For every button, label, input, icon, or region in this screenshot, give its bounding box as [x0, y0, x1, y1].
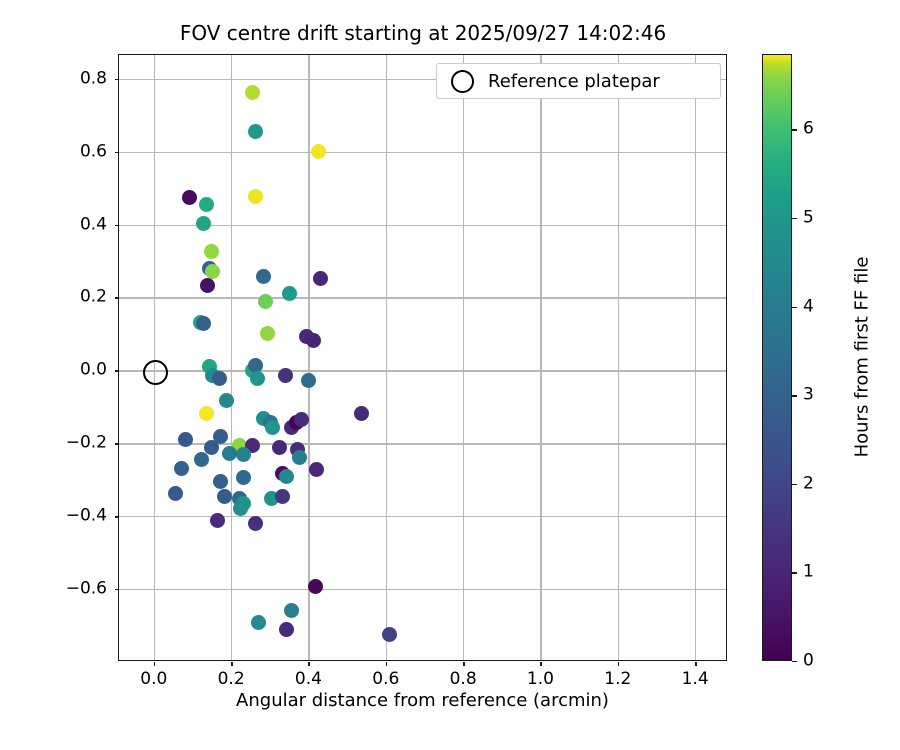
colorbar-title: Hours from first FF file — [852, 257, 873, 458]
x-axis-label: Angular distance from reference (arcmin) — [118, 690, 727, 711]
colorbar-tick-label: 2 — [803, 475, 814, 492]
plot-axes: 0.00.20.40.60.81.01.21.4 −0.6−0.4−0.20.0… — [118, 54, 727, 661]
legend-label: Reference platepar — [488, 71, 660, 92]
scatter-point — [212, 371, 227, 386]
x-tick-label: 1.0 — [527, 671, 554, 688]
colorbar-tick-label: 0 — [803, 653, 814, 670]
x-tick-label: 0.2 — [218, 671, 245, 688]
colorbar-tick-label: 6 — [803, 121, 814, 138]
colorbar-tick — [792, 572, 797, 573]
colorbar-tick-label: 1 — [803, 564, 814, 581]
scatter-point — [199, 406, 214, 421]
x-tick — [308, 662, 309, 666]
scatter-point — [248, 124, 263, 139]
colorbar-tick — [792, 395, 797, 396]
scatter-point — [205, 264, 220, 279]
scatter-point — [236, 470, 251, 485]
scatter-point — [354, 406, 369, 421]
y-tick-label: 0.8 — [80, 70, 107, 87]
scatter-point — [309, 462, 324, 477]
scatter-point — [196, 316, 211, 331]
scatter-point — [282, 286, 297, 301]
scatter-point — [292, 450, 307, 465]
page-title: FOV centre drift starting at 2025/09/27 … — [118, 20, 728, 46]
scatter-point — [200, 278, 215, 293]
reference-platepar-marker — [143, 360, 168, 385]
x-tick — [154, 662, 155, 666]
colorbar-gradient — [762, 54, 792, 661]
colorbar-tick — [792, 484, 797, 485]
y-tick-label: −0.2 — [66, 435, 107, 452]
x-tick-label: 1.2 — [604, 671, 631, 688]
y-tick-label: −0.4 — [66, 508, 107, 525]
x-tick — [695, 662, 696, 666]
colorbar-tick — [792, 129, 797, 130]
scatter-point — [279, 622, 294, 637]
scatter-point — [308, 579, 323, 594]
scatter-point — [313, 271, 328, 286]
colorbar: 0123456 — [762, 54, 792, 661]
scatter-point — [251, 615, 266, 630]
scatter-point — [204, 244, 219, 259]
scatter-point — [248, 189, 263, 204]
y-tick-label: 0.0 — [80, 362, 107, 379]
open-circle-icon — [451, 70, 474, 93]
scatter-point — [311, 144, 326, 159]
scatter-point — [294, 412, 309, 427]
scatter-point — [210, 513, 225, 528]
scatter-point — [258, 294, 273, 309]
scatter-point — [236, 447, 251, 462]
scatter-point — [265, 420, 280, 435]
x-tick — [618, 662, 619, 666]
scatter-point — [174, 461, 189, 476]
scatter-point — [217, 489, 232, 504]
y-tick-label: 0.6 — [80, 143, 107, 160]
scatter-point — [306, 333, 321, 348]
scatter-point — [219, 393, 234, 408]
colorbar-tick — [792, 307, 797, 308]
scatter-point — [250, 371, 265, 386]
x-tick-label: 0.8 — [450, 671, 477, 688]
x-tick — [386, 662, 387, 666]
y-tick-label: −0.6 — [66, 581, 107, 598]
scatter-point — [275, 489, 290, 504]
x-tick-label: 0.0 — [140, 671, 167, 688]
colorbar-tick-label: 4 — [803, 298, 814, 315]
scatter-point — [194, 452, 209, 467]
y-tick-label: 0.2 — [80, 289, 107, 306]
scatter-point — [382, 627, 397, 642]
scatter-point — [182, 190, 197, 205]
scatter-point — [301, 373, 316, 388]
scatter-point — [196, 216, 211, 231]
scatter-point — [178, 432, 193, 447]
x-tick — [231, 662, 232, 666]
scatter-point — [222, 446, 237, 461]
x-tick-label: 0.6 — [372, 671, 399, 688]
x-tick — [540, 662, 541, 666]
scatter-point — [248, 516, 263, 531]
scatter-point — [245, 85, 260, 100]
scatter-point — [168, 486, 183, 501]
colorbar-tick — [792, 661, 797, 662]
x-tick-label: 1.4 — [682, 671, 709, 688]
colorbar-tick — [792, 218, 797, 219]
scatter-point — [233, 501, 248, 516]
legend: Reference platepar — [436, 63, 721, 99]
scatter-point — [272, 440, 287, 455]
x-tick — [463, 662, 464, 666]
x-tick-label: 0.4 — [295, 671, 322, 688]
scatter-point — [213, 474, 228, 489]
scatter-point — [199, 197, 214, 212]
scatter-point — [279, 469, 294, 484]
scatter-point — [204, 440, 219, 455]
scatter-point — [260, 326, 275, 341]
scatter-point — [256, 269, 271, 284]
scatter-point — [278, 368, 293, 383]
scatter-point — [284, 603, 299, 618]
scatter-series — [119, 55, 726, 660]
colorbar-tick-label: 5 — [803, 209, 814, 226]
figure-canvas: FOV centre drift starting at 2025/09/27 … — [0, 0, 900, 750]
y-tick-label: 0.4 — [80, 216, 107, 233]
colorbar-tick-label: 3 — [803, 387, 814, 404]
